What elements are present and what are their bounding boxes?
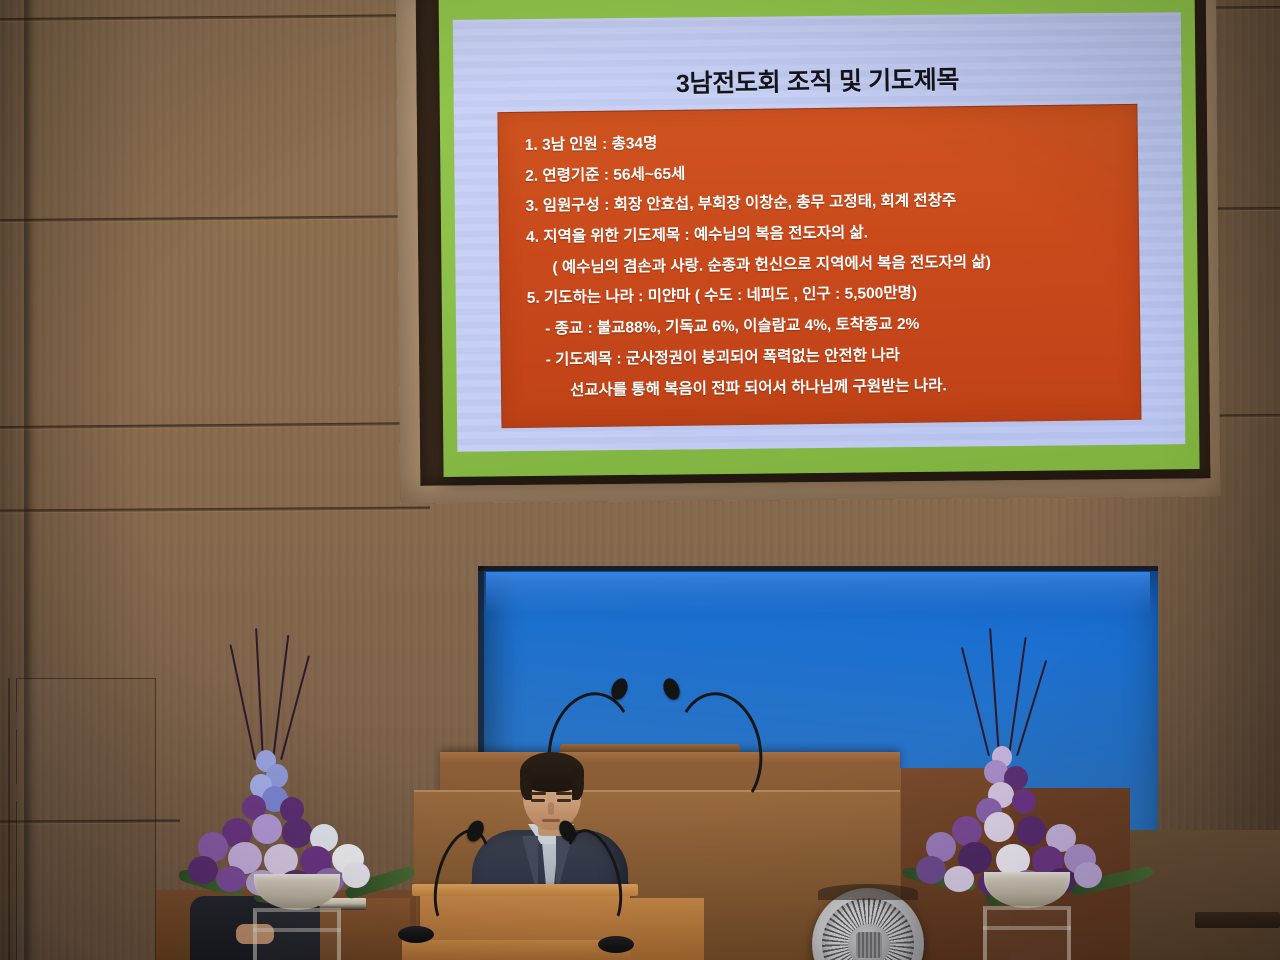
flower-bloom — [282, 818, 312, 848]
mic-base — [398, 926, 434, 943]
door-hinge-icon — [13, 784, 18, 801]
flower-bloom — [216, 866, 246, 892]
fan-hub-vents — [856, 932, 882, 958]
purple-floral-arrangement-right — [912, 646, 1142, 908]
door-seam — [8, 678, 10, 960]
glass-flower-stand — [253, 908, 341, 960]
presentation-slide: 3남전도회 조직 및 기도제목 1. 3남 인원 : 총34명 2. 연령기준 … — [453, 12, 1185, 452]
right-ledge-shelf — [1195, 912, 1280, 928]
decor-twig — [1008, 637, 1027, 756]
slide-content-box: 1. 3남 인원 : 총34명 2. 연령기준 : 56세~65세 3. 임원구… — [497, 104, 1141, 428]
glass-flower-stand — [983, 906, 1071, 960]
decor-twig — [229, 644, 255, 760]
decor-twig — [989, 628, 1000, 756]
purple-floral-arrangement-left — [182, 650, 412, 910]
speaker-eye-left — [531, 799, 545, 802]
side-wood-panel-far-right — [1130, 830, 1280, 960]
speaker-eyebrow-left — [530, 792, 546, 795]
door-hinge-icon — [13, 712, 18, 729]
backdrop-top-glow — [486, 572, 1150, 614]
speaker-nose — [548, 802, 554, 815]
backdrop-lip-top — [478, 566, 1158, 571]
sanctuary-scene: 3남전도회 조직 및 기도제목 1. 3남 인원 : 총34명 2. 연령기준 … — [0, 0, 1280, 960]
lectern-right-block — [630, 898, 704, 960]
mic-base — [598, 936, 634, 953]
flower-bloom — [1074, 862, 1102, 888]
flower-bloom — [944, 866, 974, 892]
speaker-eye-right — [557, 799, 571, 802]
slide-title: 3남전도회 조직 및 기도제목 — [453, 57, 1181, 104]
decor-twig — [961, 647, 990, 756]
flower-bloom — [342, 862, 370, 888]
flower-bloom — [984, 812, 1014, 842]
flower-bloom — [1016, 816, 1046, 846]
projection-screen[interactable]: 3남전도회 조직 및 기도제목 1. 3남 인원 : 총34명 2. 연령기준 … — [438, 0, 1199, 477]
speaker-hair-side-right — [572, 768, 584, 800]
flower-vase — [254, 874, 340, 910]
flower-bloom — [916, 856, 946, 884]
fan-shadow-top — [818, 884, 918, 900]
flower-stand-shelf — [253, 928, 341, 932]
flower-bloom — [252, 814, 282, 844]
wall-door-left[interactable] — [16, 678, 156, 960]
speaker-eyebrow-right — [556, 792, 572, 795]
speaker-mouth — [542, 819, 560, 822]
flower-bloom — [188, 856, 218, 884]
speaker-hair-side-left — [520, 768, 532, 800]
flower-stand-shelf — [983, 926, 1071, 930]
flower-bloom — [1012, 789, 1036, 814]
